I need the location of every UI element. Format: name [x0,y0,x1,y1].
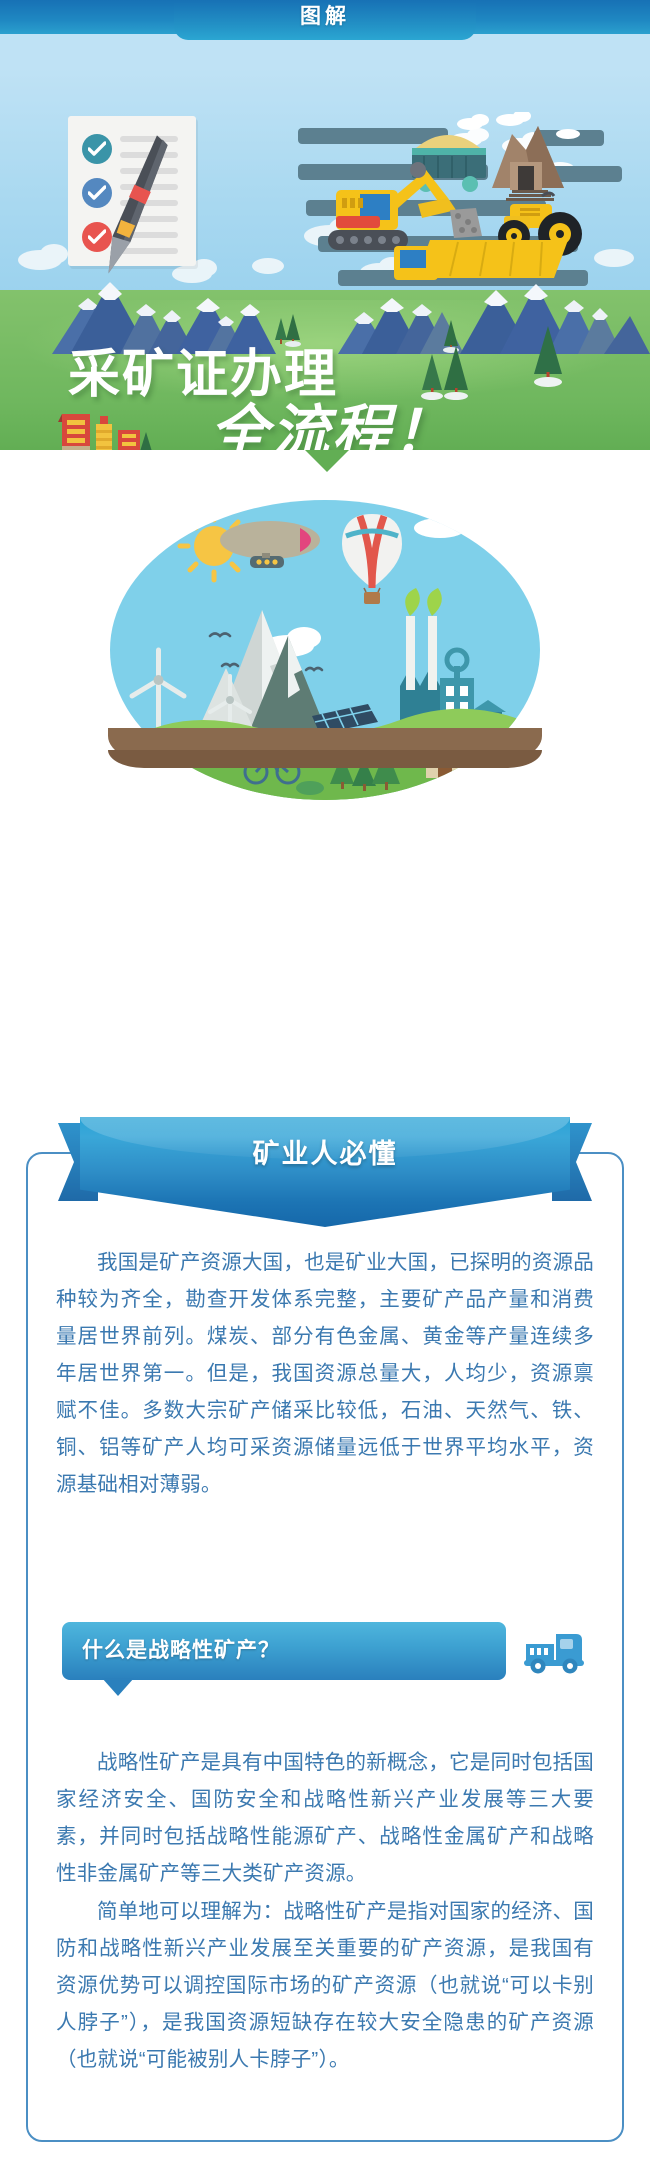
eco-soil-layer-dark [108,750,542,768]
mining-machinery-illustration [298,112,628,287]
body-paragraph-1: 我国是矿产资源大国，也是矿业大国，已探明的资源品种较为齐全，勘查开发体系完整，主… [56,1244,594,1503]
factory-icon [48,404,158,450]
header-bar: 图解 [0,0,650,68]
header-title: 图解 [0,2,650,32]
down-arrow-icon [305,450,349,472]
dump-truck-icon [524,1624,586,1674]
body-paragraph-3: 简单地可以理解为：战略性矿产是指对国家的经济、国防和战略性新兴产业发展至关重要的… [56,1893,594,2078]
body-paragraph-2: 战略性矿产是具有中国特色的新概念，它是同时包括国家经济安全、国防安全和战略性新兴… [56,1744,594,1892]
eco-illustration-section [0,450,650,830]
check-circle-teal-icon [82,134,112,164]
header-notch-right [468,34,488,54]
banner-title: 矿业人必懂 [80,1117,570,1191]
infographic-page: 图解 [0,0,650,2169]
hero-title-line1: 采矿证办理 [0,344,650,406]
subheading-bubble-tail [102,1678,134,1696]
hero-section: 采矿证办理 全流程！ [0,68,650,450]
subheading-title: 什么是战略性矿产？ [82,1622,280,1680]
section-banner: 矿业人必懂 [58,1117,592,1207]
mining-vehicles-icon [298,112,628,287]
check-circle-blue-icon [82,178,112,208]
